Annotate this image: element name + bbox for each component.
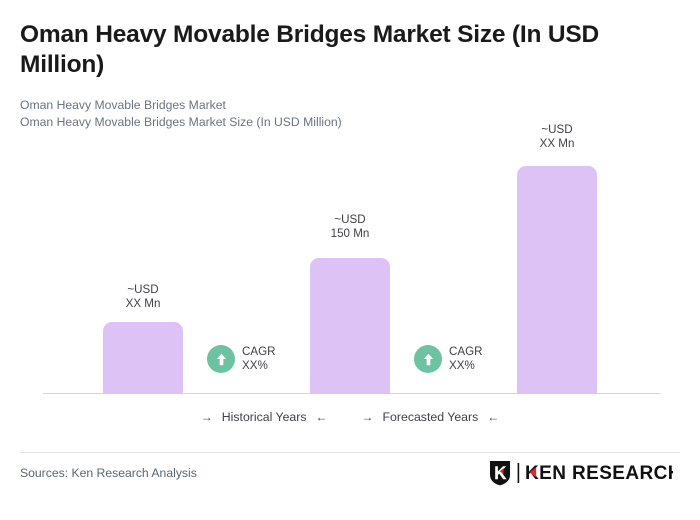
arrow-right-icon: →	[201, 411, 213, 423]
cagr-badge-1[interactable]: CAGR XX%	[207, 345, 276, 373]
cagr-label-1: CAGR	[242, 345, 276, 359]
sources-text: Sources: Ken Research Analysis	[20, 466, 197, 480]
cagr-badge-2[interactable]: CAGR XX%	[414, 345, 483, 373]
bar-value-label-3-line1: ~USD	[517, 123, 597, 137]
bar-value-label-1: ~USD XX Mn	[103, 283, 183, 311]
period-historical-label: Historical Years	[222, 410, 307, 424]
period-forecasted: → Forecasted Years ←	[362, 410, 500, 424]
footer-divider	[20, 452, 680, 453]
ken-research-wordmark: KEN RESEARCH	[525, 462, 673, 489]
ken-research-logo: KEN RESEARCH	[488, 462, 673, 488]
bar-value-label-3-line2: XX Mn	[517, 137, 597, 151]
bar-chart: ~USD XX Mn CAGR XX% ~USD 150 Mn	[0, 0, 700, 400]
cagr-value-2: XX%	[449, 359, 483, 373]
cagr-text-1: CAGR XX%	[242, 345, 276, 373]
bar-3[interactable]	[517, 166, 597, 394]
arrow-right-icon: →	[362, 411, 374, 423]
bar-value-label-2: ~USD 150 Mn	[310, 213, 390, 241]
period-labels: → Historical Years ← → Forecasted Years …	[0, 410, 700, 424]
period-forecasted-label: Forecasted Years	[383, 410, 479, 424]
arrow-left-icon: ←	[487, 411, 499, 423]
cagr-value-1: XX%	[242, 359, 276, 373]
svg-text:KEN RESEARCH: KEN RESEARCH	[525, 463, 673, 484]
bar-2[interactable]	[310, 258, 390, 394]
bar-value-label-1-line1: ~USD	[103, 283, 183, 297]
arrow-left-icon: ←	[316, 411, 328, 423]
arrow-up-icon	[207, 345, 235, 373]
bar-value-label-2-line2: 150 Mn	[310, 227, 390, 241]
bar-value-label-3: ~USD XX Mn	[517, 123, 597, 151]
ken-shield-icon	[488, 460, 512, 491]
arrow-up-icon	[414, 345, 442, 373]
bar-value-label-1-line2: XX Mn	[103, 297, 183, 311]
chart-page: Oman Heavy Movable Bridges Market Size (…	[0, 0, 700, 520]
bar-value-label-2-line1: ~USD	[310, 213, 390, 227]
period-historical: → Historical Years ←	[201, 410, 328, 424]
logo-divider-bar	[516, 462, 521, 489]
bar-1[interactable]	[103, 322, 183, 394]
cagr-label-2: CAGR	[449, 345, 483, 359]
cagr-text-2: CAGR XX%	[449, 345, 483, 373]
